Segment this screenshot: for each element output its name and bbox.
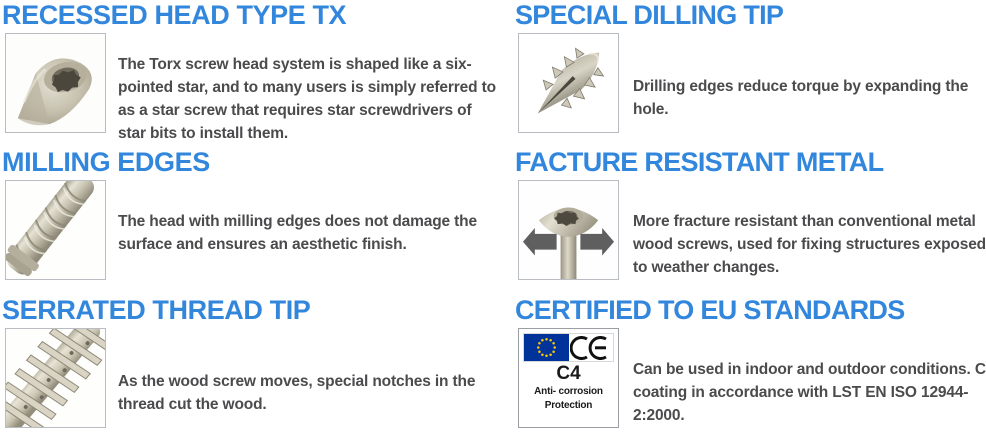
feature-title-eu-certified: CERTIFIED TO EU STANDARDS <box>513 295 986 325</box>
thumbnail-frame-drilling-tip <box>518 33 619 133</box>
milling-edges-screw-shank-photo <box>6 181 105 279</box>
screw-head-with-expansion-arrows-photo <box>519 181 618 279</box>
thumbnail-frame-recessed-head <box>5 33 106 133</box>
drilling-tip-screw-point-photo <box>519 34 618 132</box>
feature-description-recessed-head: The Torx screw head system is shaped lik… <box>118 53 498 145</box>
feature-recessed-head: RECESSED HEAD TYPE TX <box>0 0 473 145</box>
feature-description-serrated-thread: As the wood screw moves, special notches… <box>118 370 498 416</box>
feature-body-fracture-resistant: More fracture resistant than conventiona… <box>513 180 986 288</box>
certification-badge-top-row <box>523 333 614 362</box>
thumbnail-frame-fracture-resistant <box>518 180 619 280</box>
feature-title-milling-edges: MILLING EDGES <box>0 147 473 177</box>
european-union-flag-icon <box>524 334 569 361</box>
feature-eu-certified: CERTIFIED TO EU STANDARDS <box>513 295 986 437</box>
feature-body-serrated-thread: As the wood screw moves, special notches… <box>0 328 473 436</box>
torx-countersunk-screw-head-photo <box>6 34 105 132</box>
serrated-thread-screw-photo <box>6 329 105 427</box>
feature-body-recessed-head: The Torx screw head system is shaped lik… <box>0 33 473 141</box>
product-feature-infographic: RECESSED HEAD TYPE TX <box>0 0 986 437</box>
thumbnail-frame-serrated-thread <box>5 328 106 428</box>
feature-column-left: RECESSED HEAD TYPE TX <box>0 0 473 437</box>
feature-milling-edges: MILLING EDGES <box>0 147 473 295</box>
ce-mark-icon <box>569 334 613 361</box>
feature-drilling-tip: SPECIAL DILLING TIP <box>513 0 986 145</box>
thumbnail-frame-milling-edges <box>5 180 106 280</box>
feature-description-drilling-tip: Drilling edges reduce torque by expandin… <box>633 75 986 121</box>
feature-description-milling-edges: The head with milling edges does not dam… <box>118 210 498 256</box>
feature-title-drilling-tip: SPECIAL DILLING TIP <box>513 0 986 30</box>
feature-title-recessed-head: RECESSED HEAD TYPE TX <box>0 0 473 30</box>
feature-body-drilling-tip: Drilling edges reduce torque by expandin… <box>513 33 986 141</box>
certification-badge: C4 Anti- corrosion Protection <box>518 328 619 428</box>
feature-serrated-thread: SERRATED THREAD TIP <box>0 295 473 437</box>
corrosion-label-line2: Protection <box>545 399 592 413</box>
feature-title-fracture-resistant: FACTURE RESISTANT METAL <box>513 147 986 177</box>
corrosion-label-line1: Anti- corrosion <box>534 385 603 399</box>
feature-description-eu-certified: Can be used in indoor and outdoor condit… <box>633 358 986 427</box>
feature-description-fracture-resistant: More fracture resistant than conventiona… <box>633 210 986 279</box>
feature-body-eu-certified: C4 Anti- corrosion Protection Can be use… <box>513 328 986 436</box>
feature-body-milling-edges: The head with milling edges does not dam… <box>0 180 473 288</box>
corrosion-grade-value: C4 <box>556 363 580 385</box>
feature-fracture-resistant: FACTURE RESISTANT METAL <box>513 147 986 295</box>
feature-column-right: SPECIAL DILLING TIP <box>513 0 986 437</box>
feature-title-serrated-thread: SERRATED THREAD TIP <box>0 295 473 325</box>
